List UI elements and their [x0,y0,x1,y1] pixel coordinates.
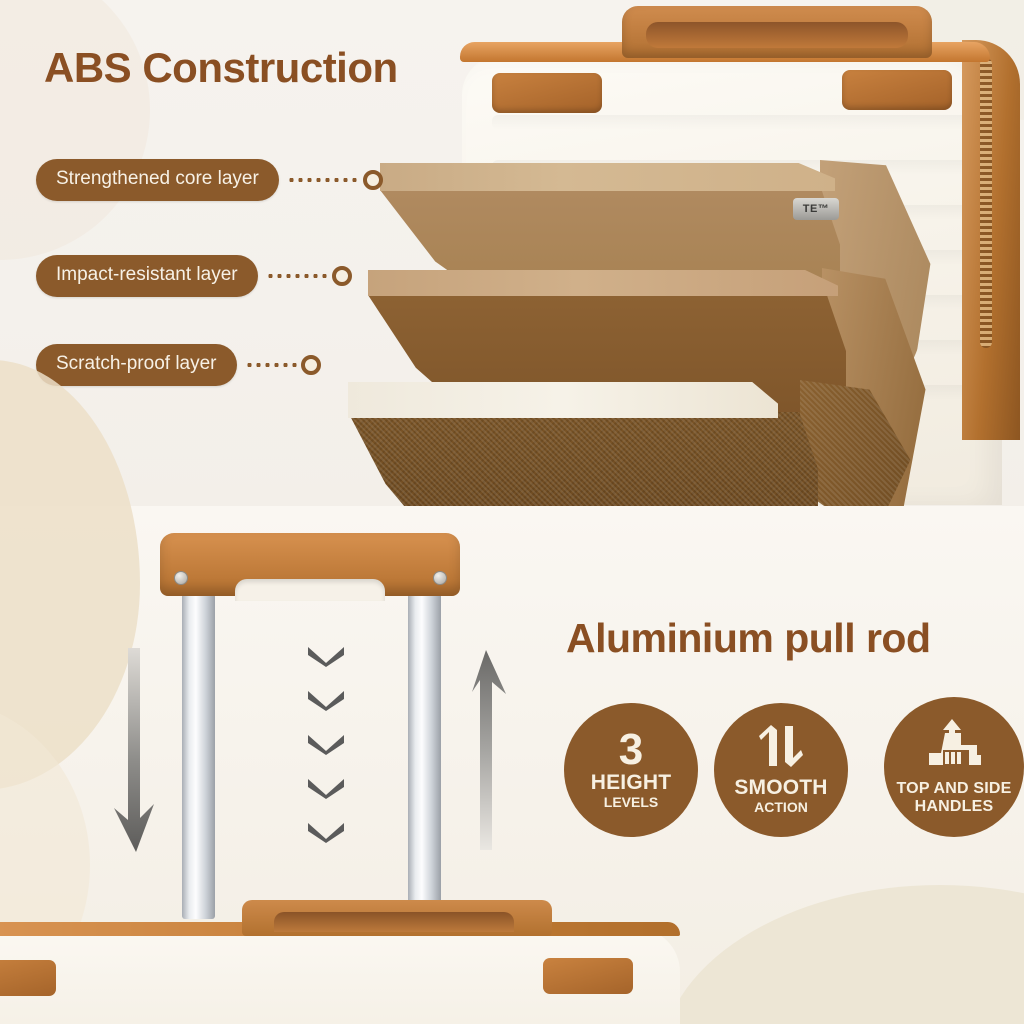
leather-corner-pad-left [0,960,56,996]
badge-sub-label: ACTION [754,800,808,815]
chevron-down-icon [305,645,347,667]
suitcase-bottom-product-photo [0,900,740,1024]
impact-layer-edge [368,270,838,296]
handle-grip-opening [274,912,514,932]
leader-dots [287,178,359,182]
background-blob-top-left [0,0,150,260]
chevron-down-icon [305,689,347,711]
aluminium-rod-right [408,594,441,919]
filled-dot-marker-icon [363,170,383,190]
zipper-teeth [980,58,992,348]
brand-plate: TE™ [793,198,839,220]
down-arrow-icon [112,648,156,852]
height-adjust-chevrons [305,645,349,835]
page-title-abs-construction: ABS Construction [44,44,398,92]
callout-label: Impact-resistant layer [36,255,258,297]
aluminium-rod-left [182,594,215,919]
chevron-down-icon [305,821,347,843]
badge-main-label: HEIGHT [591,772,672,793]
callout-leader [266,266,352,286]
callout-leader [287,170,383,190]
abs-construction-panel: TE™ ABS Construction Strengthened core l… [0,0,1024,506]
badge-number: 3 [619,730,643,770]
callout-label: Strengthened core layer [36,159,279,201]
handle-grip-opening [646,22,908,48]
suitcase-top-carry-handle [622,6,932,58]
callout-impact-resistant-layer: Impact-resistant layer [36,255,352,297]
leather-corner-pad-right [842,70,952,110]
filled-dot-marker-icon [332,266,352,286]
infographic-root: TE™ ABS Construction Strengthened core l… [0,0,1024,1024]
callout-label: Scratch-proof layer [36,344,237,386]
handle-screw-right [433,571,447,585]
badge-height-levels: 3 HEIGHT LEVELS [564,703,698,837]
scratch-layer-face [348,412,818,506]
up-down-arrows-icon [755,724,807,773]
handle-inner-notch [235,579,385,601]
leather-corner-pad-right [543,958,633,994]
callout-strengthened-core-layer: Strengthened core layer [36,159,383,201]
callout-scratch-proof-layer: Scratch-proof layer [36,344,321,386]
ring-marker-icon [301,355,321,375]
callout-leader [245,355,321,375]
leader-dots [266,274,328,278]
abs-layer-cross-section [330,150,930,506]
leader-dots [245,363,297,367]
pull-rod-handle-grip [160,533,460,596]
scratch-layer-edge [348,382,778,418]
badge-main-label: SMOOTH [734,777,827,798]
chevron-down-icon [305,777,347,799]
badge-smooth-action: SMOOTH ACTION [714,703,848,837]
badge-main-label: TOP AND SIDE HANDLES [884,780,1024,815]
badge-sub-label: LEVELS [604,795,658,810]
up-arrow-icon [468,650,512,850]
chevron-down-icon [305,733,347,755]
core-layer-edge [380,163,835,191]
handle-screw-left [174,571,188,585]
section-title-aluminium-pull-rod: Aluminium pull rod [566,615,931,662]
leather-corner-pad-left [492,73,602,113]
badge-top-and-side-handles: TOP AND SIDE HANDLES [884,697,1024,837]
suitcase-bottom-carry-handle [242,900,552,936]
hand-grip-handle-icon [919,719,989,776]
